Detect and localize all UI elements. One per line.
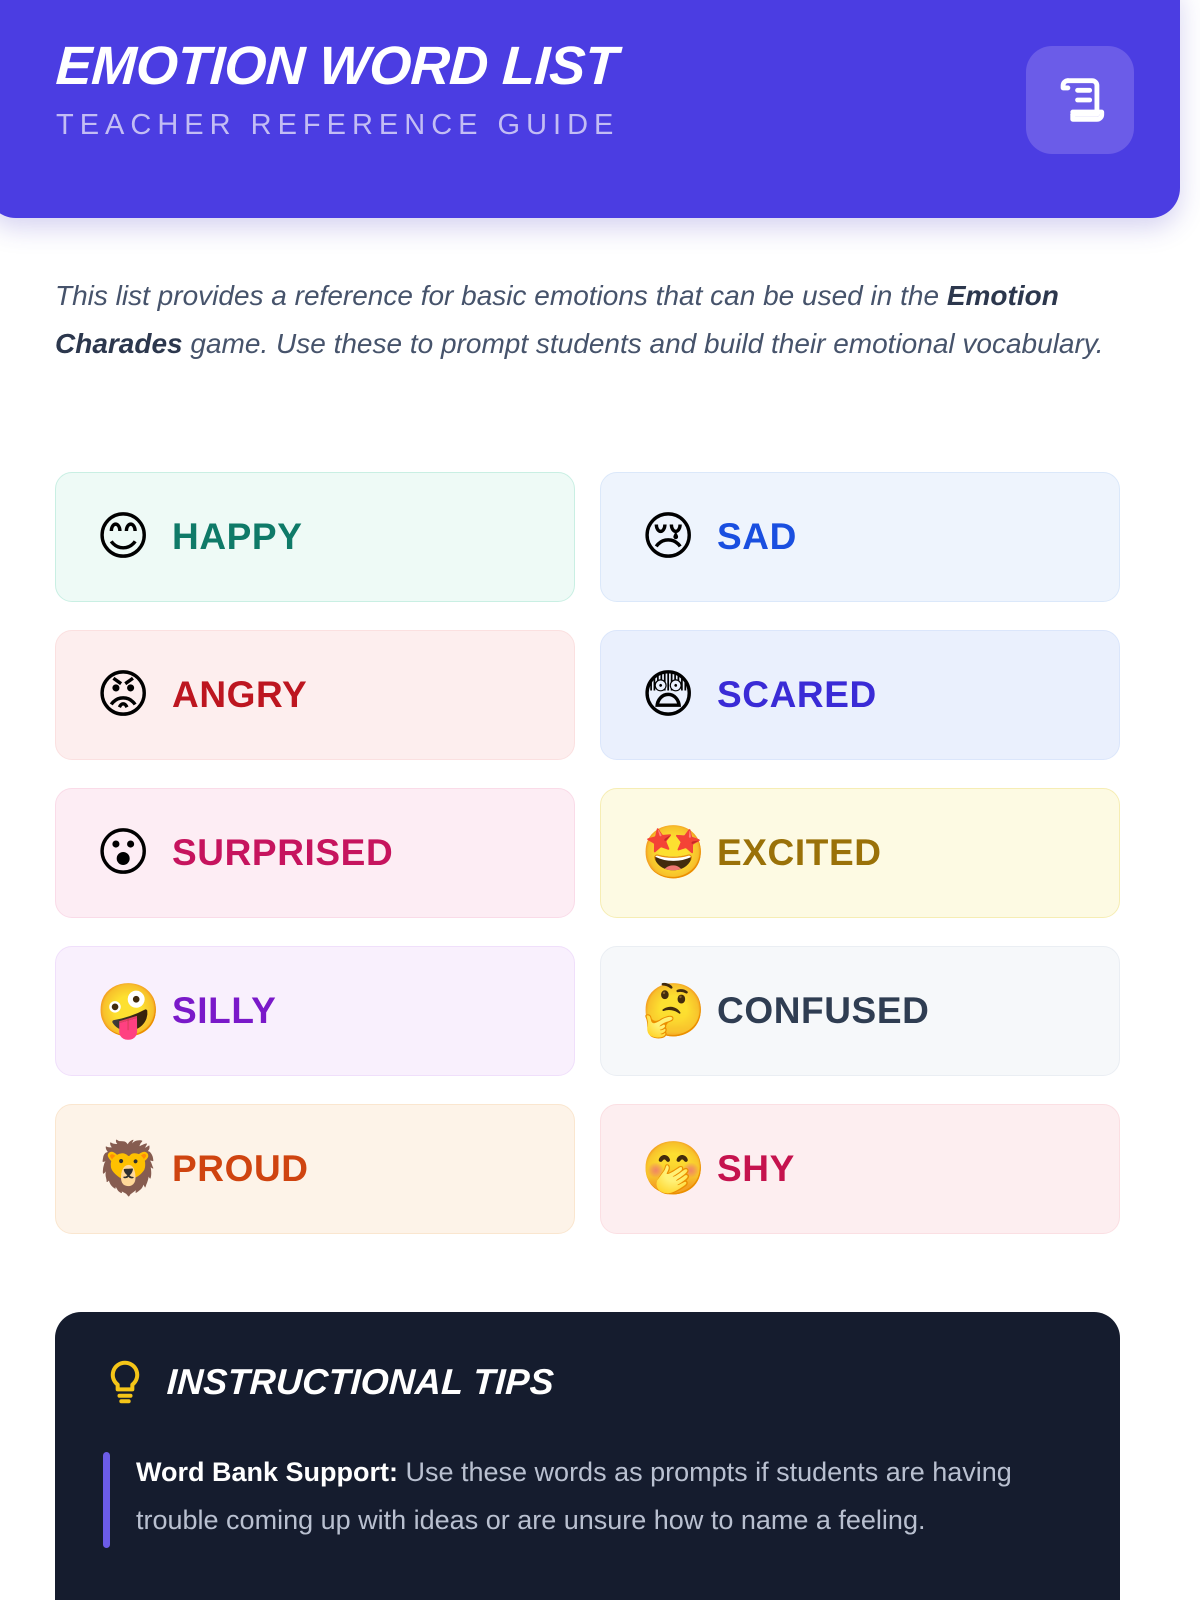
emotion-word-list-page: EMOTION WORD LIST TEACHER REFERENCE GUID…	[0, 0, 1200, 1600]
emotion-card-surprised[interactable]: 😮SURPRISED	[55, 788, 575, 918]
emotion-card-proud[interactable]: 🦁PROUD	[55, 1104, 575, 1234]
header-text-group: EMOTION WORD LIST TEACHER REFERENCE GUID…	[56, 38, 1140, 142]
emotion-label: HAPPY	[172, 516, 302, 558]
zany-face-emoji: 🤪	[96, 985, 158, 1037]
face-with-open-mouth-emoji: 😮	[96, 827, 158, 879]
emotion-card-angry[interactable]: 😡ANGRY	[55, 630, 575, 760]
emotion-card-sad[interactable]: 😢SAD	[600, 472, 1120, 602]
star-struck-face-emoji: 🤩	[641, 827, 703, 879]
intro-part-1: This list provides a reference for basic…	[55, 280, 947, 311]
page-title: EMOTION WORD LIST	[55, 38, 1142, 95]
page-subtitle: TEACHER REFERENCE GUIDE	[56, 109, 1140, 142]
crying-face-emoji: 😢	[641, 511, 703, 563]
lightbulb-icon	[103, 1358, 147, 1406]
tips-title: INSTRUCTIONAL TIPS	[166, 1361, 555, 1403]
scroll-document-badge	[1026, 46, 1134, 154]
emotion-label: CONFUSED	[717, 990, 929, 1032]
thinking-face-emoji: 🤔	[641, 985, 703, 1037]
emotion-label: PROUD	[172, 1148, 309, 1190]
tip-text: Word Bank Support: Use these words as pr…	[136, 1448, 1072, 1544]
tip-lead: Word Bank Support:	[136, 1457, 398, 1487]
face-with-hand-over-mouth-emoji: 🤭	[641, 1143, 703, 1195]
fearful-face-emoji: 😨	[641, 669, 703, 721]
instructional-tips-card: INSTRUCTIONAL TIPS Word Bank Support: Us…	[55, 1312, 1120, 1600]
smiling-face-with-smiling-eyes-emoji: 😊	[96, 511, 158, 563]
emotion-card-confused[interactable]: 🤔CONFUSED	[600, 946, 1120, 1076]
emotion-card-scared[interactable]: 😨SCARED	[600, 630, 1120, 760]
tips-header: INSTRUCTIONAL TIPS	[103, 1358, 1072, 1406]
lion-face-emoji: 🦁	[96, 1143, 158, 1195]
emotion-label: SAD	[717, 516, 797, 558]
tip-item: Word Bank Support: Use these words as pr…	[103, 1448, 1072, 1548]
emotion-card-happy[interactable]: 😊HAPPY	[55, 472, 575, 602]
page-header: EMOTION WORD LIST TEACHER REFERENCE GUID…	[0, 0, 1180, 218]
emotion-card-excited[interactable]: 🤩EXCITED	[600, 788, 1120, 918]
emotion-card-shy[interactable]: 🤭SHY	[600, 1104, 1120, 1234]
pouting-angry-face-emoji: 😡	[96, 669, 158, 721]
emotion-label: ANGRY	[172, 674, 307, 716]
emotion-label: SHY	[717, 1148, 795, 1190]
tip-accent-bar	[103, 1452, 110, 1548]
emotion-card-grid: 😊HAPPY😢SAD😡ANGRY😨SCARED😮SURPRISED🤩EXCITE…	[55, 472, 1120, 1234]
scroll-document-icon	[1051, 71, 1109, 129]
emotion-label: SILLY	[172, 990, 276, 1032]
emotion-label: SURPRISED	[172, 832, 393, 874]
emotion-label: EXCITED	[717, 832, 882, 874]
intro-part-2: game. Use these to prompt students and b…	[183, 328, 1104, 359]
intro-paragraph: This list provides a reference for basic…	[55, 272, 1115, 368]
emotion-card-silly[interactable]: 🤪SILLY	[55, 946, 575, 1076]
emotion-label: SCARED	[717, 674, 877, 716]
